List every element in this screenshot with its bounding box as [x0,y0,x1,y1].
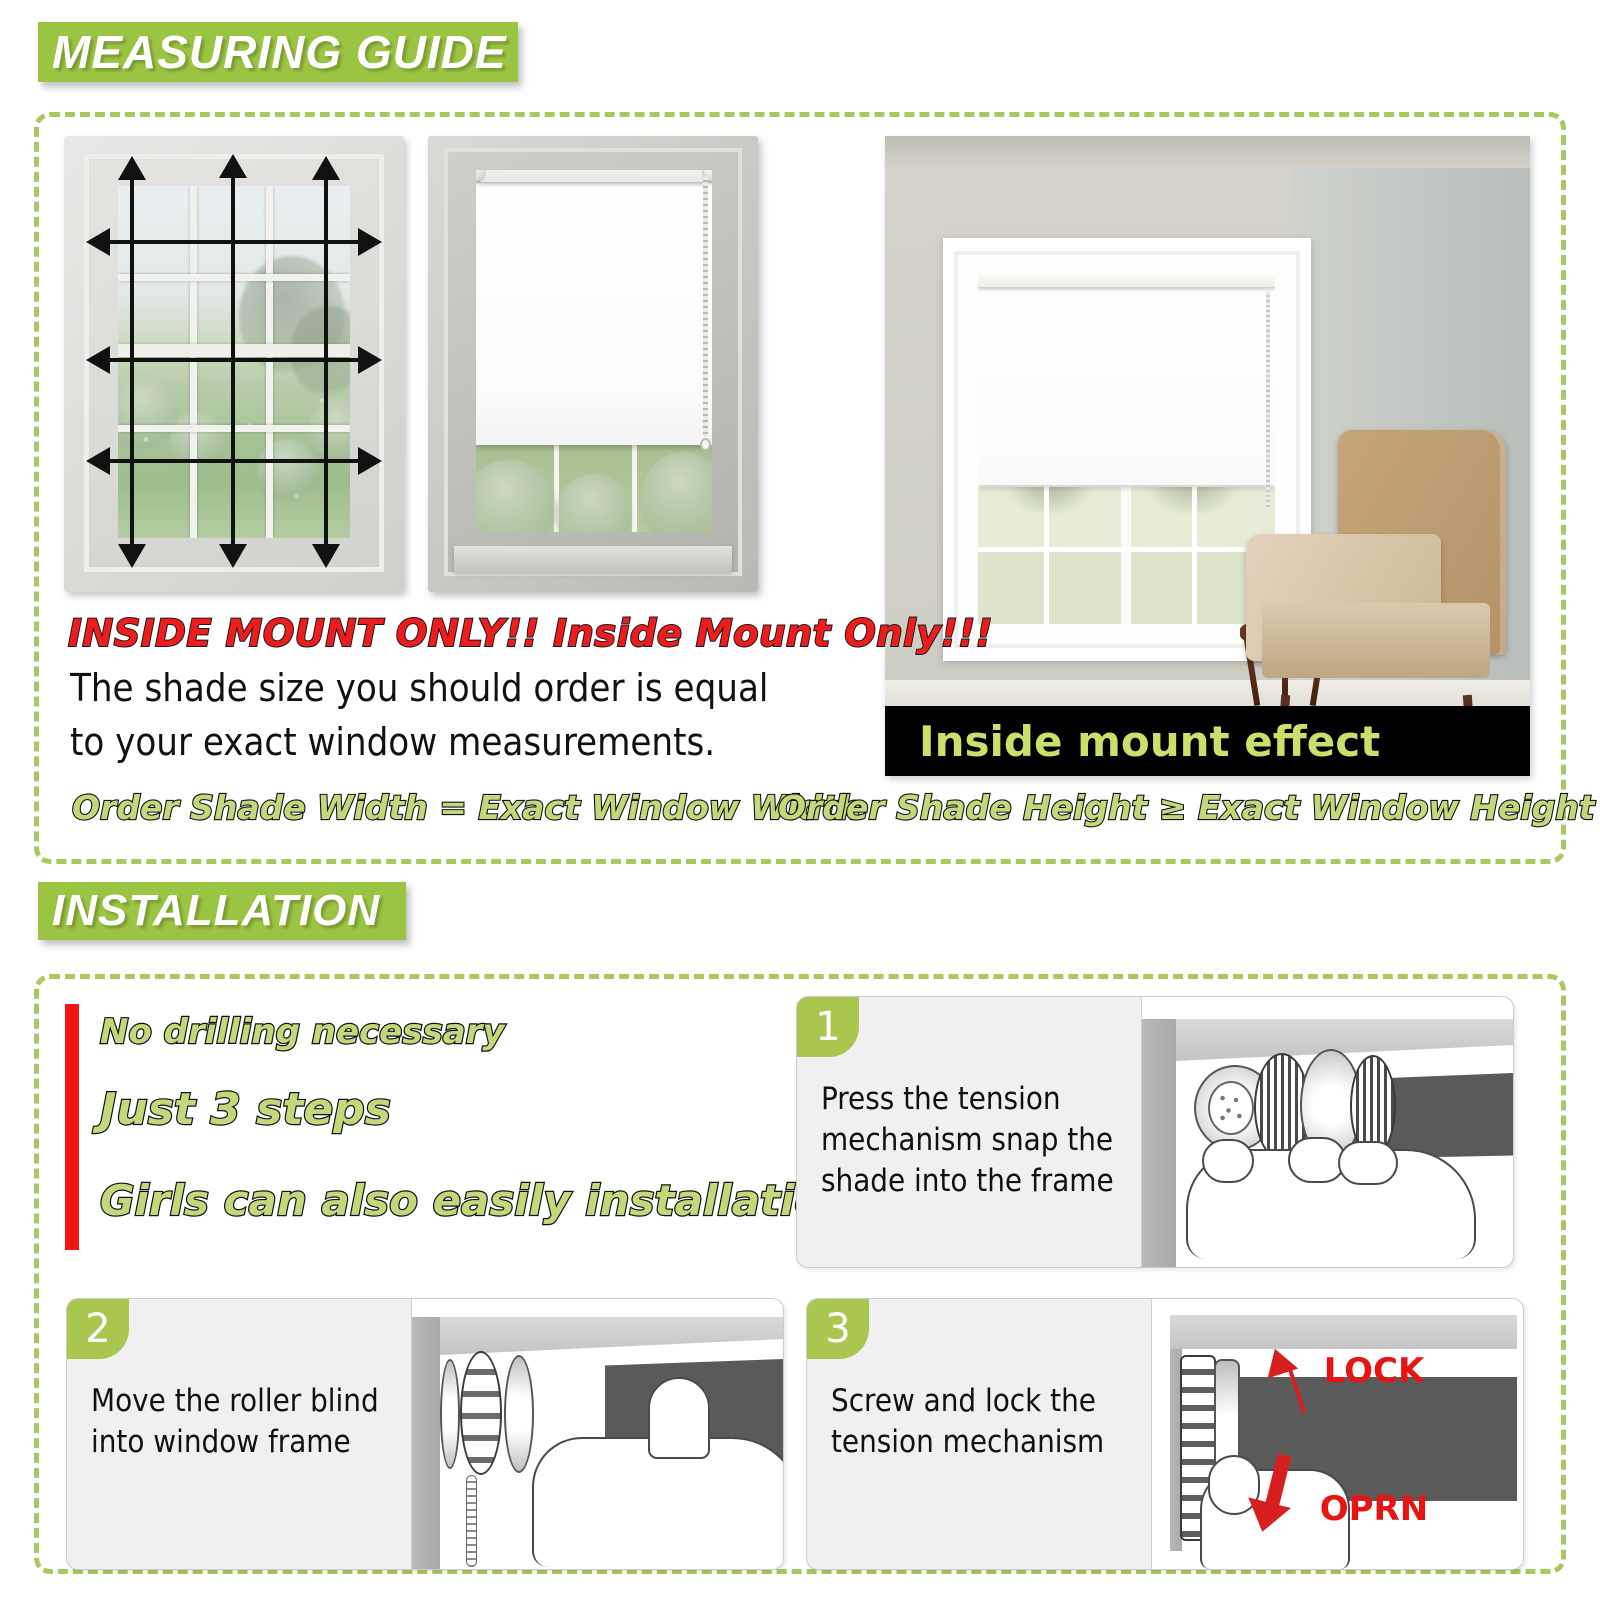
chair-seat [1262,603,1490,678]
arrowhead-down-icon [219,544,247,568]
room-window-glass [978,275,1275,624]
install-step-1-card: 1 Press the tension mechanism snap the s… [796,996,1514,1268]
tension-disc [504,1355,534,1473]
measure-arrow-horizontal [108,459,363,463]
bead-chain-loop[interactable] [700,438,711,451]
step-1-text: Press the tension mechanism snap the sha… [821,1079,1161,1202]
install-step-2-card: 2 Move the roller blind into window fram… [66,1298,784,1570]
arrowhead-left-icon [86,447,110,475]
arrowhead-up-icon [118,156,146,180]
arrowhead-up-icon [312,156,340,180]
thumb [648,1377,710,1459]
install-step-3-card: 3 Screw and lock the tension mechanism L… [806,1298,1524,1570]
open-label: OPRN [1320,1489,1428,1529]
equation-shade-height: Order Shade Height ≥ Exact Window Height [778,788,1595,827]
measuring-guide-title: MEASURING GUIDE [52,25,507,79]
order-size-note: The shade size you should order is equal… [70,662,810,770]
install-highlight-2: Just 3 steps [100,1084,391,1135]
frame-top-plane [440,1317,783,1355]
bead-chain[interactable] [703,176,708,437]
wall-edge [412,1317,440,1569]
equation-shade-width: Order Shade Width = Exact Window Width [72,788,861,827]
arrowhead-up-icon [219,154,247,178]
armchair [1246,430,1517,718]
bush-shape [556,474,632,532]
step-number-badge: 2 [67,1299,129,1359]
arrow-down-open-icon [1238,1447,1318,1537]
finger [1288,1137,1346,1183]
inside-mount-warning: INSIDE MOUNT ONLY!! Inside Mount Only!!! [68,612,858,655]
arrow-up-lock-icon [1240,1343,1320,1423]
photo-caption-text: Inside mount effect [885,717,1380,766]
step-1-illustration [1141,997,1513,1267]
measure-arrow-horizontal [108,240,363,244]
shade-roller-tube [978,275,1275,288]
arrowhead-left-icon [86,228,110,256]
window-sill [454,546,732,572]
bush-shape [641,452,712,532]
arrowhead-down-icon [312,544,340,568]
installation-banner: INSTALLATION [38,882,406,940]
finger [1338,1141,1398,1185]
thumb [1202,1139,1254,1183]
accent-bar [65,1004,79,1250]
gear-wheel [460,1351,502,1475]
frame-top-plane [1170,1315,1517,1349]
room-roller-shade [978,275,1275,485]
lock-label: LOCK [1324,1351,1425,1391]
step-number-badge: 3 [807,1299,869,1359]
shade-fabric [476,170,712,445]
roller-shade-diagram [428,136,758,592]
photo-caption-bar: Inside mount effect [885,706,1530,776]
inside-mount-room-photo: Inside mount effect [885,136,1530,776]
measure-arrow-vertical [130,178,134,548]
window-mullion-vertical [266,186,273,538]
measure-arrow-horizontal [108,358,363,362]
arrowhead-right-icon [358,346,382,374]
window-mullion-horizontal [978,547,1275,552]
ceiling [885,136,1530,168]
measure-arrow-vertical [324,178,328,548]
step-number-badge: 1 [797,997,859,1057]
installation-title: INSTALLATION [52,886,380,936]
shade-frame-inner [444,148,742,576]
wall-edge [1142,1019,1176,1267]
shade-roller-tube [476,170,712,182]
window-mullion-vertical [190,186,197,538]
arrowhead-right-icon [358,228,382,256]
step-3-illustration: LOCK OPRN [1151,1299,1523,1569]
bush-shape [476,460,556,532]
arrowhead-left-icon [86,346,110,374]
bead-chain[interactable] [466,1475,477,1567]
step-2-text: Move the roller blind into window frame [91,1381,431,1463]
install-highlight-3: Girls can also easily installation [100,1176,853,1225]
step-3-text: Screw and lock the tension mechanism [831,1381,1171,1463]
shade-window-glass [476,170,712,532]
measure-arrow-vertical [231,176,235,548]
bracket [440,1359,460,1469]
measuring-guide-banner: MEASURING GUIDE [38,22,518,82]
arrowhead-down-icon [118,544,146,568]
step-2-illustration [411,1299,783,1569]
window-measure-diagram [64,136,404,592]
tension-mechanism-pad [1208,1081,1254,1135]
install-highlight-1: No drilling necessary [100,1012,505,1052]
arrowhead-right-icon [358,447,382,475]
